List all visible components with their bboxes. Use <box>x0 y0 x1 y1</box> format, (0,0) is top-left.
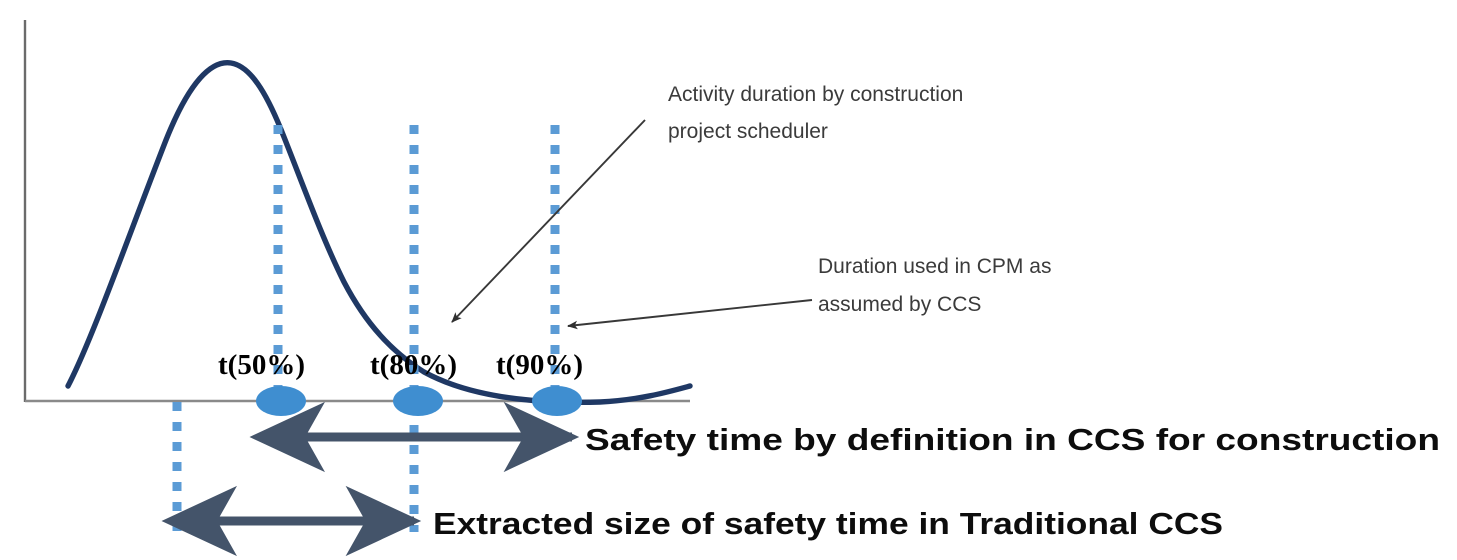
marker-t50[interactable] <box>256 386 306 416</box>
leader-line-activity-duration <box>452 120 645 322</box>
annotation-duration-cpm-line2: assumed by CCS <box>818 293 981 316</box>
caption-safety-time-ccs: Safety time by definition in CCS for con… <box>585 422 1440 457</box>
ccs-safety-time-diagram: t(50%) t(80%) t(90%) Activity duration b… <box>0 0 1457 560</box>
annotation-activity-duration: Activity duration by construction projec… <box>452 83 963 322</box>
percentile-markers-group <box>256 386 582 416</box>
marker-t90[interactable] <box>532 386 582 416</box>
marker-t80[interactable] <box>393 386 443 416</box>
reference-lines-group <box>177 125 555 532</box>
tick-label-t80: t(80%) <box>370 349 457 381</box>
axes-group <box>25 20 690 402</box>
annotation-activity-duration-line2: project scheduler <box>668 120 828 143</box>
figure-canvas: t(50%) t(80%) t(90%) Activity duration b… <box>0 0 1457 560</box>
leader-line-duration-cpm <box>568 300 812 326</box>
tick-label-t90: t(90%) <box>496 349 583 381</box>
tick-label-t50: t(50%) <box>218 349 305 381</box>
tick-labels-group: t(50%) t(80%) t(90%) <box>218 349 583 381</box>
annotation-activity-duration-line1: Activity duration by construction <box>668 83 963 106</box>
annotation-duration-cpm: Duration used in CPM as assumed by CCS <box>568 255 1051 326</box>
captions-group: Safety time by definition in CCS for con… <box>433 422 1440 541</box>
annotation-duration-cpm-line1: Duration used in CPM as <box>818 255 1051 278</box>
caption-extracted-safety-time: Extracted size of safety time in Traditi… <box>433 506 1223 541</box>
